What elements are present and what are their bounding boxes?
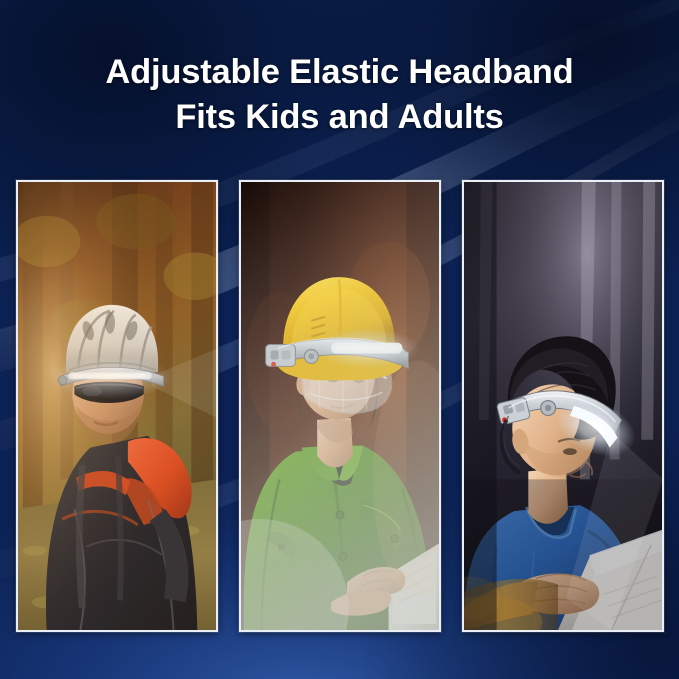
product-image-canvas: Adjustable Elastic Headband Fits Kids an… <box>0 0 679 679</box>
worker-scene <box>241 182 439 630</box>
headline-line-1: Adjustable Elastic Headband <box>0 50 679 95</box>
photo-panel-worker: Female worker wearing yellow hard hat wi… <box>239 180 441 632</box>
cyclist-scene <box>18 182 216 630</box>
boy-reading-scene <box>464 182 662 630</box>
photo-panel-row: Mountain biker in autumn forest wearing … <box>16 180 664 632</box>
photo-panel-boy-reading: Boy in blue t-shirt wearing the headlamp… <box>462 180 664 632</box>
headline-block: Adjustable Elastic Headband Fits Kids an… <box>0 50 679 140</box>
headline-line-2: Fits Kids and Adults <box>0 95 679 140</box>
photo-panel-cyclist: Mountain biker in autumn forest wearing … <box>16 180 218 632</box>
